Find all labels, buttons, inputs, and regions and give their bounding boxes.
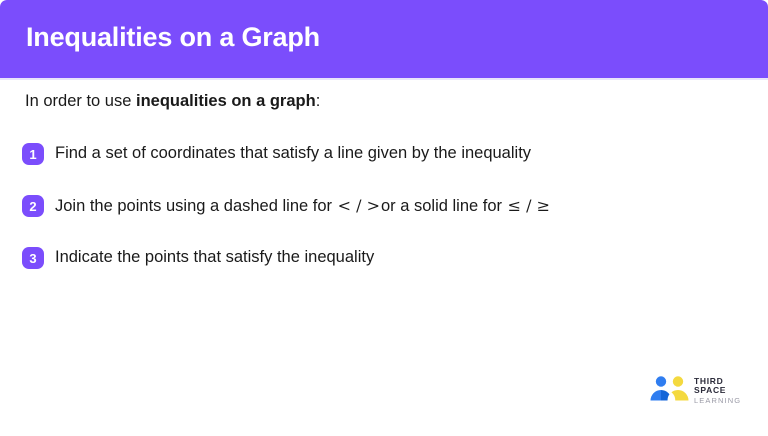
step-number-badge-1: 1: [22, 143, 44, 165]
step-text-1: Find a set of coordinates that satisfy a…: [55, 141, 531, 166]
inclusive-inequality-symbols: ≤ / ≥: [507, 196, 551, 215]
step-item-2: 2 Join the points using a dashed line fo…: [22, 193, 551, 219]
intro-sentence: In order to use inequalities on a graph:: [25, 92, 320, 111]
intro-suffix: :: [316, 92, 321, 110]
header-divider: [0, 78, 768, 80]
step-item-3: 3 Indicate the points that satisfy the i…: [22, 245, 374, 270]
page-title: Inequalities on a Graph: [26, 22, 320, 53]
intro-emphasis: inequalities on a graph: [136, 92, 316, 110]
third-space-learning-mark-icon: [648, 374, 692, 404]
step-2-text-part-1: Join the points using a dashed line for: [55, 197, 337, 215]
step-number-badge-3: 3: [22, 247, 44, 269]
intro-prefix: In order to use: [25, 92, 136, 110]
logo-line-1: THIRD SPACE: [694, 377, 756, 394]
slide-card: Inequalities on a Graph In order to use …: [0, 0, 768, 436]
brand-logo: THIRD SPACE LEARNING: [648, 372, 756, 408]
step-text-3: Indicate the points that satisfy the ine…: [55, 245, 374, 270]
logo-wordmark: THIRD SPACE LEARNING: [694, 377, 756, 405]
step-2-text-part-2: or a solid line for: [381, 197, 507, 215]
step-text-2: Join the points using a dashed line for …: [55, 193, 551, 219]
step-item-1: 1 Find a set of coordinates that satisfy…: [22, 141, 531, 166]
step-number-badge-2: 2: [22, 195, 44, 217]
logo-line-2: LEARNING: [694, 397, 756, 405]
strict-inequality-symbols: < / >: [337, 196, 381, 215]
